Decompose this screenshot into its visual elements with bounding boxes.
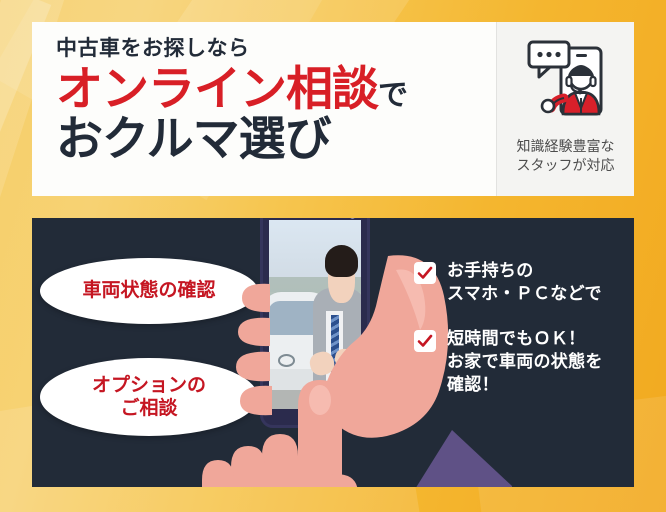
- phone-home-button: [306, 402, 325, 421]
- smartphone-mockup: [260, 218, 370, 428]
- phone-camera-icon: [350, 218, 355, 219]
- headline-emphasis: オンライン相談: [56, 62, 378, 115]
- staff-caption-line-1: 知識経験豊富な: [517, 137, 615, 156]
- headline-kicker: 中古車をお探しなら: [56, 38, 496, 59]
- sleeve: [402, 430, 512, 487]
- pill-vehicle-condition: 車両状態の確認: [40, 258, 258, 324]
- headline-block: 中古車をお探しなら オンライン相談で おクルマ選び: [32, 22, 497, 196]
- checklist-item: 短時間でもＯＫ！ お家で車両の状態を 確認！: [414, 328, 629, 397]
- salesman-hair: [325, 245, 358, 277]
- knuckle-3: [202, 460, 234, 487]
- knuckle-1: [262, 434, 298, 487]
- knuckle-2: [231, 446, 265, 487]
- feature-panel: 車両状態の確認 オプションの ご相談: [32, 218, 634, 487]
- bottom-gold-strip: [0, 487, 666, 512]
- check-icon: [414, 330, 436, 352]
- checklist-item-text: 短時間でもＯＫ！ お家で車両の状態を 確認！: [447, 328, 603, 397]
- checklist-item-text: お手持ちの スマホ・ＰＣなどで: [447, 260, 602, 306]
- promo-banner: 中古車をお探しなら オンライン相談で おクルマ選び: [0, 0, 666, 512]
- headline-suffix: で: [378, 79, 407, 112]
- staff-caption: 知識経験豊富な スタッフが対応: [517, 137, 615, 175]
- staff-caption-line-2: スタッフが対応: [517, 156, 615, 175]
- check-icon: [414, 262, 436, 284]
- phone-screen: [269, 220, 361, 409]
- staff-callout: 知識経験豊富な スタッフが対応: [497, 22, 634, 196]
- headline-card: 中古車をお探しなら オンライン相談で おクルマ選び: [32, 22, 634, 196]
- thumb-base: [314, 474, 358, 487]
- headline-line-1: オンライン相談で: [56, 65, 496, 113]
- operator-headset-icon: [523, 36, 609, 133]
- pill-option-consult: オプションの ご相談: [40, 358, 258, 436]
- headline-line-2: おクルマ選び: [56, 115, 496, 163]
- checklist-item: お手持ちの スマホ・ＰＣなどで: [414, 260, 629, 306]
- benefit-checklist: お手持ちの スマホ・ＰＣなどで 短時間でもＯＫ！ お家で車両の状態を 確認！: [414, 260, 629, 419]
